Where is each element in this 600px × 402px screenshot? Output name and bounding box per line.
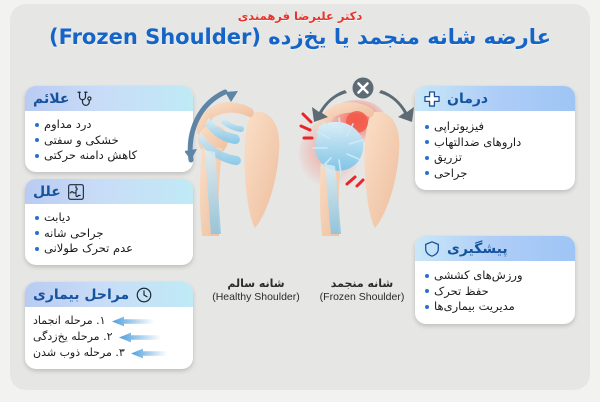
- bullet-dot: [35, 216, 39, 220]
- page-title: عارضه شانه منجمد یا یخ‌زده (Frozen Shoul…: [10, 24, 590, 50]
- list-item: فیزیوتراپی: [425, 119, 565, 135]
- list-item-label: دیابت: [44, 210, 70, 226]
- list-item-label: مدیریت بیماری‌ها: [434, 299, 515, 315]
- list-item: حفظ تحرک: [425, 284, 565, 300]
- card-causes-header: علل: [25, 179, 193, 204]
- bullet-dot: [35, 154, 39, 158]
- card-symptoms-header: علائم: [25, 86, 193, 111]
- healthy-shoulder-group: [185, 91, 279, 236]
- header: دکتر علیرضا فرهمندی عارضه شانه منجمد یا …: [10, 4, 590, 66]
- bullet-dot: [35, 247, 39, 251]
- stage-arrow-icon: [112, 316, 154, 327]
- card-symptoms[interactable]: علائم درد مداوم خشکی و سفتی کاهش دامنه ح…: [25, 86, 193, 172]
- list-item: خشکی و سفتی: [35, 133, 183, 149]
- list-item-label: حفظ تحرک: [434, 284, 489, 300]
- list-item-label: ورزش‌های کششی: [434, 268, 523, 284]
- bullet-dot: [35, 138, 39, 142]
- infographic-frame: دکتر علیرضا فرهمندی عارضه شانه منجمد یا …: [10, 4, 590, 390]
- card-causes-body: دیابت جراحی شانه عدم تحرک طولانی: [25, 204, 193, 265]
- causes-list: دیابت جراحی شانه عدم تحرک طولانی: [35, 210, 183, 257]
- healthy-shoulder-label: شانه سالم (Healthy Shoulder): [208, 277, 304, 304]
- card-symptoms-title: علائم: [33, 91, 69, 107]
- card-treatment-body: فیزیوتراپی داروهای ضدالتهاب تزریق جراحی: [415, 111, 575, 190]
- bullet-dot: [425, 125, 429, 129]
- list-item-label: تزریق: [434, 150, 462, 166]
- list-item-label: داروهای ضدالتهاب: [434, 135, 521, 151]
- stethoscope-icon: [75, 90, 93, 108]
- bullet-dot: [425, 140, 429, 144]
- card-stages[interactable]: مراحل بیماری ۱. مرحله انجماد ۲. مرحله یخ…: [25, 282, 193, 369]
- frozen-shoulder-label: شانه منجمد (Frozen Shoulder): [310, 277, 414, 304]
- list-item: ورزش‌های کششی: [425, 268, 565, 284]
- frozen-shoulder-group: [299, 78, 414, 237]
- prevention-list: ورزش‌های کششی حفظ تحرک مدیریت بیماری‌ها: [425, 268, 565, 315]
- card-prevention[interactable]: پیشگیری ورزش‌های کششی حفظ تحرک مدیریت بی…: [415, 236, 575, 324]
- list-item-label: ۱. مرحله انجماد: [33, 313, 106, 329]
- list-item-label: درد مداوم: [44, 117, 92, 133]
- stage-arrow-icon: [131, 348, 173, 359]
- card-prevention-header: پیشگیری: [415, 236, 575, 261]
- healthy-shoulder-label-en: (Healthy Shoulder): [208, 291, 304, 304]
- card-treatment-header: درمان: [415, 86, 575, 111]
- list-item-label: ۲. مرحله یخ‌زدگی: [33, 329, 113, 345]
- shoulder-illustration: [185, 74, 425, 274]
- puzzle-piece-icon: [67, 183, 85, 201]
- stages-list: ۱. مرحله انجماد ۲. مرحله یخ‌زدگی ۳. مرحل…: [33, 313, 185, 361]
- card-prevention-title: پیشگیری: [447, 241, 508, 257]
- list-item-label: فیزیوتراپی: [434, 119, 484, 135]
- list-item-label: جراحی: [434, 166, 467, 182]
- list-item: جراحی: [425, 166, 565, 182]
- doctor-name: دکتر علیرضا فرهمندی: [10, 9, 590, 23]
- list-item-label: عدم تحرک طولانی: [44, 241, 133, 257]
- card-symptoms-body: درد مداوم خشکی و سفتی کاهش دامنه حرکتی: [25, 111, 193, 172]
- list-item: کاهش دامنه حرکتی: [35, 148, 183, 164]
- motion-arrow-head: [225, 91, 238, 102]
- list-item: ۳. مرحله ذوب شدن: [33, 345, 185, 361]
- card-causes-title: علل: [33, 184, 61, 200]
- list-item-label: کاهش دامنه حرکتی: [44, 148, 137, 164]
- list-item: عدم تحرک طولانی: [35, 241, 183, 257]
- list-item: دیابت: [35, 210, 183, 226]
- list-item: تزریق: [425, 150, 565, 166]
- card-stages-body: ۱. مرحله انجماد ۲. مرحله یخ‌زدگی ۳. مرحل…: [25, 307, 193, 369]
- list-item-label: خشکی و سفتی: [44, 133, 119, 149]
- treatment-list: فیزیوتراپی داروهای ضدالتهاب تزریق جراحی: [425, 119, 565, 181]
- list-item-label: ۳. مرحله ذوب شدن: [33, 345, 125, 361]
- list-item: جراحی شانه: [35, 226, 183, 242]
- bullet-dot: [35, 231, 39, 235]
- card-causes[interactable]: علل دیابت جراحی شانه عدم تحرک طولانی: [25, 179, 193, 265]
- list-item-label: جراحی شانه: [44, 226, 104, 242]
- frozen-shoulder-label-en: (Frozen Shoulder): [310, 291, 414, 304]
- medical-cross-icon: [423, 90, 441, 108]
- card-prevention-body: ورزش‌های کششی حفظ تحرک مدیریت بیماری‌ها: [415, 261, 575, 324]
- shield-icon: [423, 240, 441, 258]
- clock-icon: [135, 286, 153, 304]
- card-stages-title: مراحل بیماری: [33, 287, 129, 303]
- shoulder-anatomy-svg: [185, 74, 425, 274]
- card-stages-header: مراحل بیماری: [25, 282, 193, 307]
- bullet-dot: [425, 289, 429, 293]
- card-treatment[interactable]: درمان فیزیوتراپی داروهای ضدالتهاب تزریق …: [415, 86, 575, 190]
- list-item: داروهای ضدالتهاب: [425, 135, 565, 151]
- list-item: مدیریت بیماری‌ها: [425, 299, 565, 315]
- frozen-shoulder-label-fa: شانه منجمد: [310, 277, 414, 291]
- bullet-dot: [425, 171, 429, 175]
- symptoms-list: درد مداوم خشکی و سفتی کاهش دامنه حرکتی: [35, 117, 183, 164]
- bullet-dot: [35, 123, 39, 127]
- list-item: درد مداوم: [35, 117, 183, 133]
- list-item: ۲. مرحله یخ‌زدگی: [33, 329, 185, 345]
- no-motion-x-icon: [353, 78, 374, 99]
- bullet-dot: [425, 305, 429, 309]
- stage-arrow-icon: [119, 332, 161, 343]
- motion-arrow-head: [185, 149, 197, 160]
- bullet-dot: [425, 274, 429, 278]
- list-item: ۱. مرحله انجماد: [33, 313, 185, 329]
- bullet-dot: [425, 156, 429, 160]
- card-treatment-title: درمان: [447, 91, 488, 107]
- healthy-shoulder-label-fa: شانه سالم: [208, 277, 304, 291]
